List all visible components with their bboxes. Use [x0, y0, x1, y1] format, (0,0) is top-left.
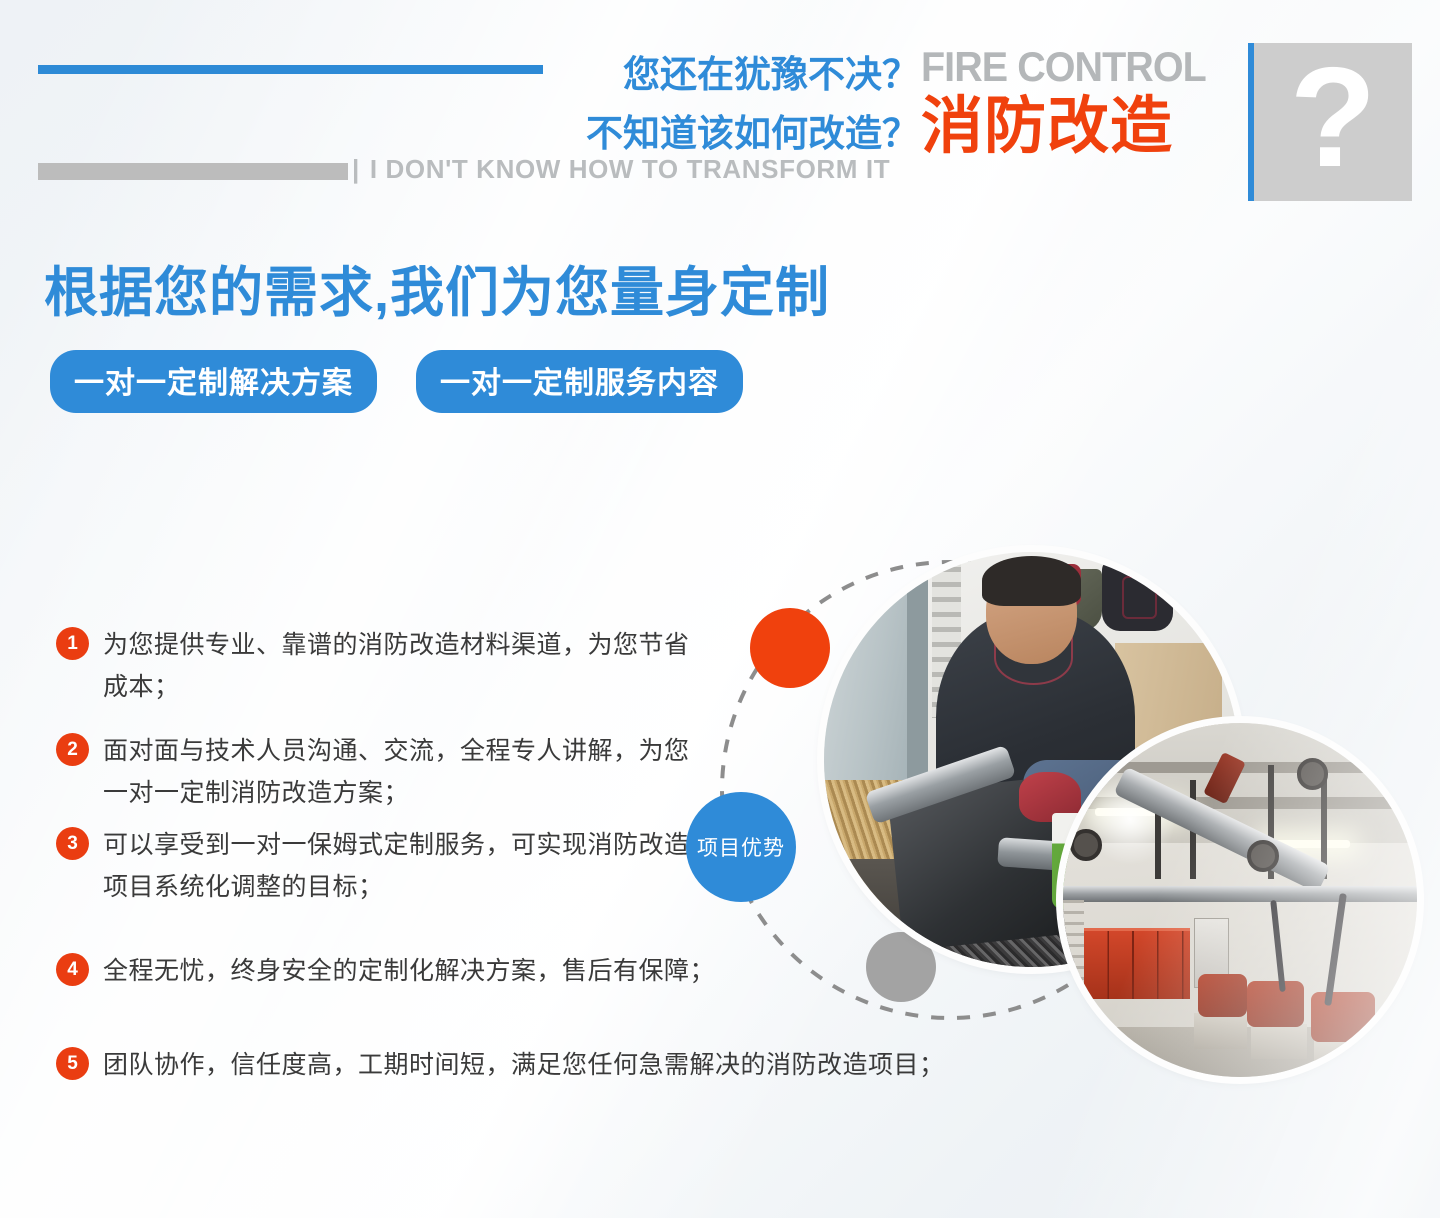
- blue-rule-decoration: [38, 65, 543, 74]
- list-item: 1 为您提供专业、靠谱的消防改造材料渠道，为您节省成本；: [56, 624, 696, 708]
- gate-valve: [1070, 829, 1102, 861]
- fire-pump: [1247, 981, 1304, 1027]
- red-control-cabinets: [1084, 928, 1190, 999]
- benefits-list: 1 为您提供专业、靠谱的消防改造材料渠道，为您节省成本； 2 面对面与技术人员沟…: [56, 624, 696, 1086]
- horizontal-pipe: [1063, 886, 1417, 902]
- pump-concrete-base: [1314, 1038, 1378, 1070]
- wall-ladder: [1063, 900, 1084, 992]
- project-advantage-label: 项目优势: [697, 832, 785, 862]
- benefit-number-badge: 2: [56, 733, 89, 766]
- backpack: [1102, 560, 1173, 631]
- gate-valve: [1247, 840, 1279, 872]
- pump-concrete-base: [1251, 1024, 1308, 1059]
- gray-rule-decoration: [38, 163, 348, 180]
- header-english-subtitle: |I DON'T KNOW HOW TO TRANSFORM IT: [352, 154, 890, 185]
- benefit-number-badge: 4: [56, 953, 89, 986]
- subtitle-bar-glyph: |: [352, 154, 360, 185]
- fire-control-english: FIRE CONTROL: [921, 43, 1206, 91]
- pump-concrete-base: [1194, 1013, 1247, 1048]
- list-item: 5 团队协作，信任度高，工期时间短，满足您任何急需解决的消防改造项目；: [56, 1044, 696, 1086]
- fire-pump: [1311, 992, 1375, 1042]
- benefit-number-badge: 5: [56, 1047, 89, 1080]
- list-item: 3 可以享受到一对一保姆式定制服务，可实现消防改造项目系统化调整的目标；: [56, 824, 696, 908]
- list-item: 4 全程无忧，终身安全的定制化解决方案，售后有保障；: [56, 950, 696, 992]
- header-question-line-2: 不知道该如何改造？: [586, 103, 919, 157]
- benefit-number-badge: 1: [56, 627, 89, 660]
- project-advantage-badge: 项目优势: [686, 792, 796, 902]
- question-mark-badge: ?: [1248, 43, 1412, 201]
- subtitle-text: I DON'T KNOW HOW TO TRANSFORM IT: [370, 154, 890, 184]
- header-question-line-1: 您还在犹豫不决？: [623, 44, 919, 98]
- worker-hair: [982, 556, 1082, 606]
- benefit-text: 可以享受到一对一保姆式定制服务，可实现消防改造项目系统化调整的目标；: [103, 824, 696, 908]
- benefit-number-badge: 3: [56, 827, 89, 860]
- orange-accent-dot: [750, 608, 830, 688]
- benefit-text: 为您提供专业、靠谱的消防改造材料渠道，为您节省成本；: [103, 624, 696, 708]
- page-title: 根据您的需求,我们为您量身定制: [44, 248, 830, 327]
- benefit-text: 全程无忧，终身安全的定制化解决方案，售后有保障；: [103, 950, 715, 992]
- pump-room-scene: [1063, 723, 1417, 1077]
- pill-row: 一对一定制解决方案 一对一定制服务内容: [50, 350, 743, 413]
- question-mark-icon: ?: [1290, 47, 1377, 189]
- page-header: 您还在犹豫不决？ 不知道该如何改造？ |I DON'T KNOW HOW TO …: [0, 0, 1440, 215]
- pill-custom-service[interactable]: 一对一定制服务内容: [416, 350, 743, 413]
- list-item: 2 面对面与技术人员沟通、交流，全程专人讲解，为您一对一定制消防改造方案；: [56, 730, 696, 814]
- fire-pump: [1198, 974, 1248, 1016]
- photo-pump-room: [1063, 723, 1417, 1077]
- promo-page: 您还在犹豫不决？ 不知道该如何改造？ |I DON'T KNOW HOW TO …: [0, 0, 1440, 1218]
- pill-custom-solution[interactable]: 一对一定制解决方案: [50, 350, 377, 413]
- benefit-text: 面对面与技术人员沟通、交流，全程专人讲解，为您一对一定制消防改造方案；: [103, 730, 696, 814]
- benefit-text: 团队协作，信任度高，工期时间短，满足您任何急需解决的消防改造项目；: [103, 1044, 945, 1086]
- fire-control-chinese: 消防改造: [921, 96, 1173, 158]
